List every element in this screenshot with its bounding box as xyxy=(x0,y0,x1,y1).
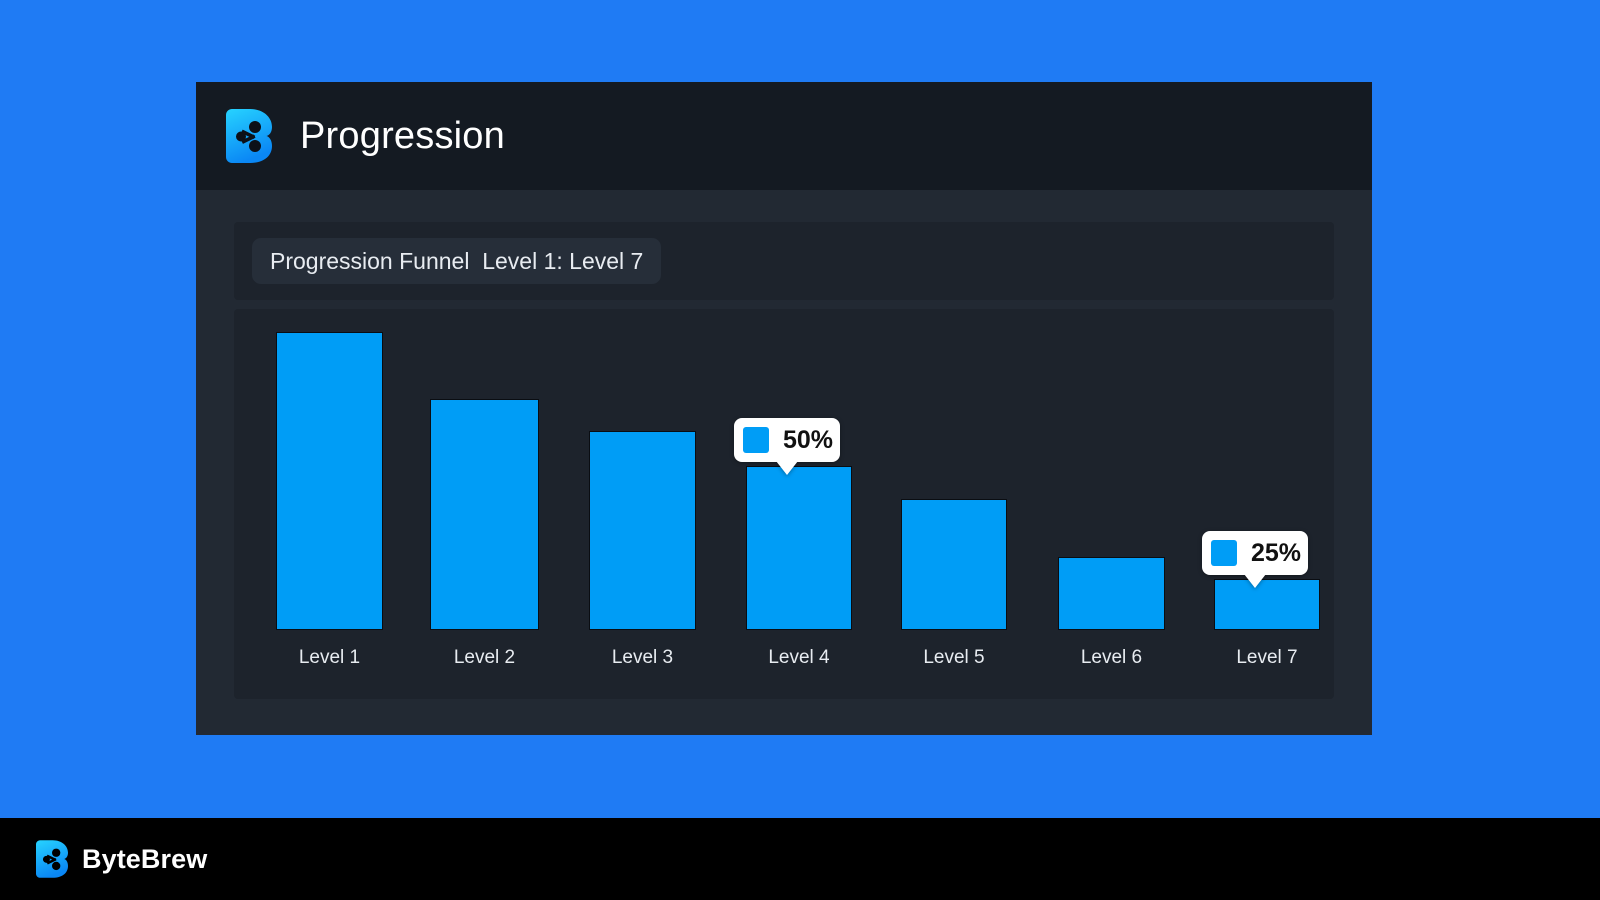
funnel-selector-label: Progression Funnel Level 1: Level 7 xyxy=(270,250,643,273)
bar-label-level-7: Level 7 xyxy=(1194,648,1340,667)
app-card: Progression Progression Funnel Level 1: … xyxy=(196,82,1372,735)
bar-chart-plot-area: Level 1 Level 2 Level 3 Level 4 50% xyxy=(234,309,1334,699)
bar-level-3[interactable] xyxy=(589,431,696,630)
progression-funnel-chart-panel: Level 1 Level 2 Level 3 Level 4 50% xyxy=(234,309,1334,699)
bar-level-6[interactable] xyxy=(1058,557,1165,630)
bar-group-level-6: Level 6 xyxy=(1058,309,1165,699)
tooltip-value-level-4: 50% xyxy=(783,428,833,453)
bar-level-2[interactable] xyxy=(430,399,539,630)
bytebrew-b-logo-icon xyxy=(36,840,68,878)
bar-level-5[interactable] xyxy=(901,499,1007,630)
bar-group-level-7: Level 7 25% xyxy=(1214,309,1320,699)
bar-group-level-1: Level 1 xyxy=(276,309,383,699)
app-header: Progression xyxy=(196,82,1372,190)
funnel-selector-bar: Progression Funnel Level 1: Level 7 xyxy=(234,222,1334,300)
tooltip-color-swatch-icon xyxy=(1211,540,1237,566)
tooltip-pointer-icon xyxy=(1244,574,1266,588)
bar-label-level-1: Level 1 xyxy=(256,648,403,667)
tooltip-level-4: 50% xyxy=(734,418,840,462)
bar-level-4[interactable] xyxy=(746,466,852,630)
bar-label-level-4: Level 4 xyxy=(726,648,872,667)
footer-wordmark: ByteBrew xyxy=(82,846,207,873)
bar-label-level-6: Level 6 xyxy=(1038,648,1185,667)
bar-group-level-2: Level 2 xyxy=(430,309,539,699)
bar-label-level-3: Level 3 xyxy=(569,648,716,667)
bytebrew-b-logo-icon xyxy=(226,109,272,163)
bar-group-level-5: Level 5 xyxy=(901,309,1007,699)
funnel-selector-pill[interactable]: Progression Funnel Level 1: Level 7 xyxy=(252,238,661,284)
tooltip-pointer-icon xyxy=(776,461,798,475)
tooltip-color-swatch-icon xyxy=(743,427,769,453)
bar-group-level-3: Level 3 xyxy=(589,309,696,699)
bar-group-level-4: Level 4 50% xyxy=(746,309,852,699)
bar-level-1[interactable] xyxy=(276,332,383,630)
bar-label-level-5: Level 5 xyxy=(881,648,1027,667)
bar-label-level-2: Level 2 xyxy=(410,648,559,667)
page-title: Progression xyxy=(300,117,505,155)
page-footer: ByteBrew xyxy=(0,818,1600,900)
tooltip-level-7: 25% xyxy=(1202,531,1308,575)
tooltip-value-level-7: 25% xyxy=(1251,541,1301,566)
bar-level-7[interactable] xyxy=(1214,579,1320,630)
